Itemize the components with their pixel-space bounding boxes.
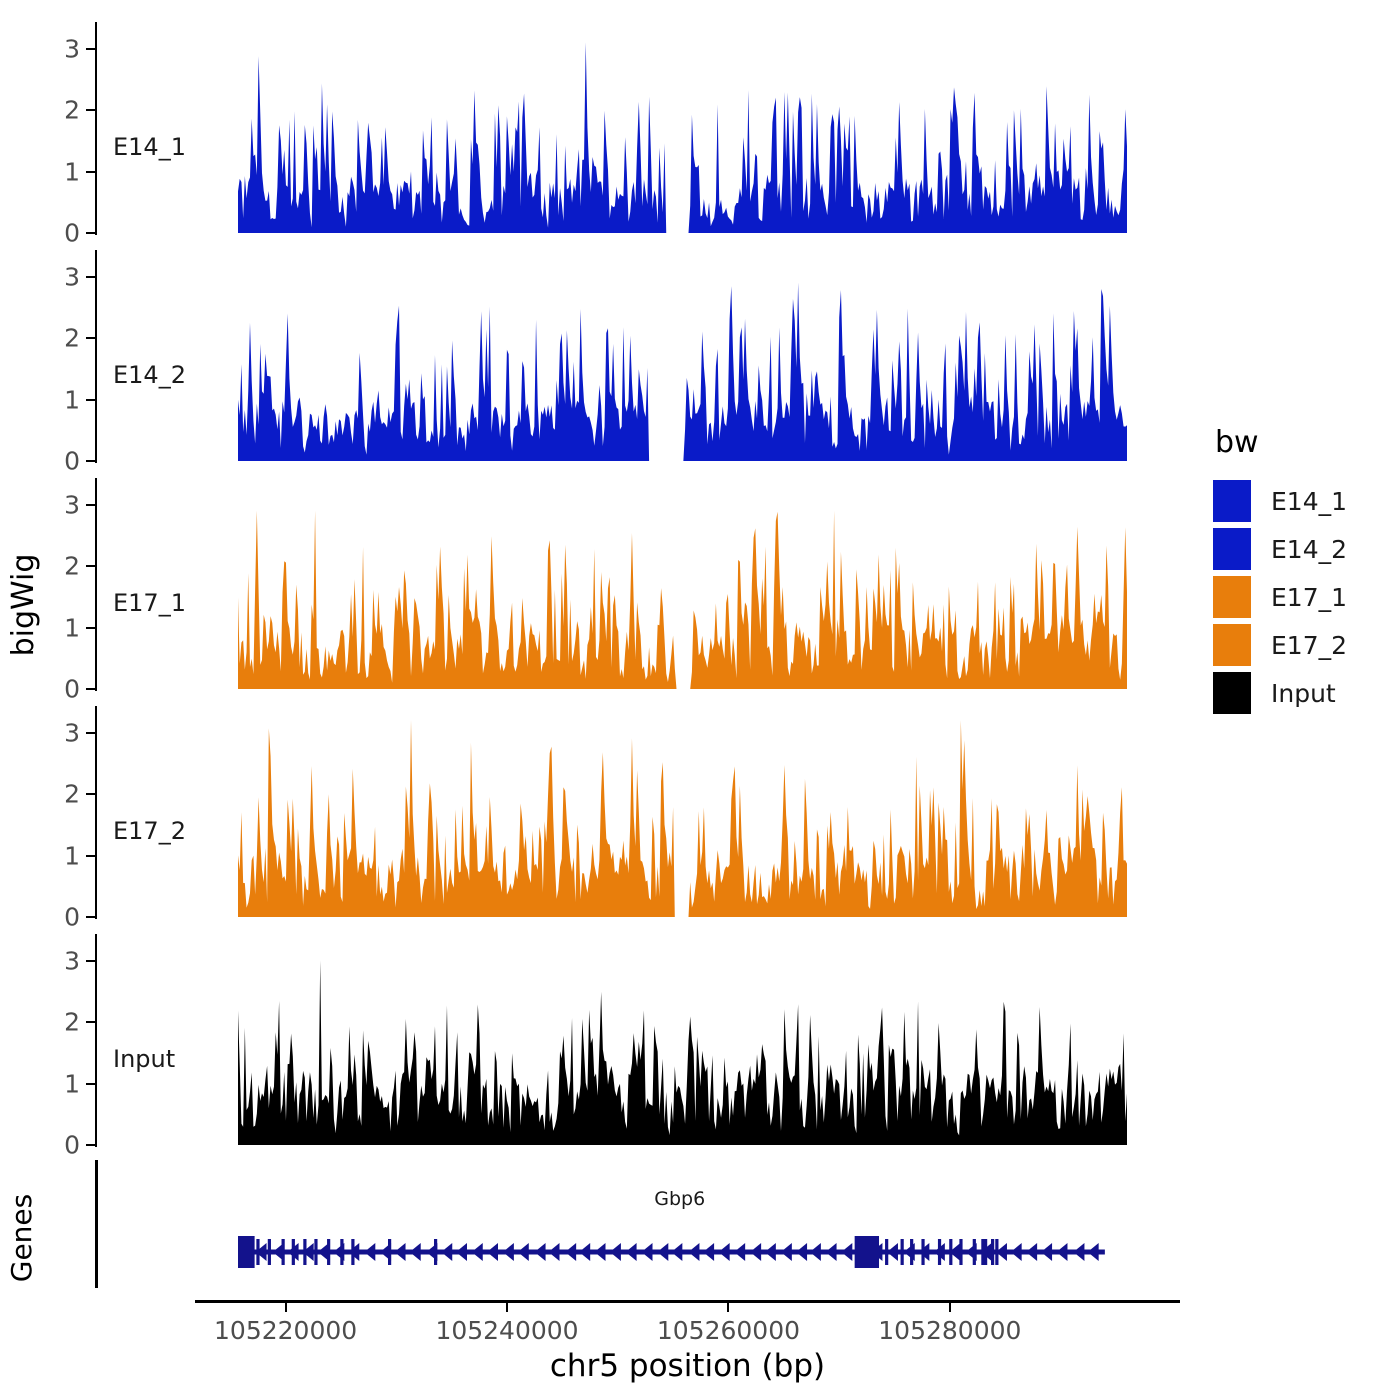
y-tick-label: 0 [64,1131,80,1160]
gene-exon-tick [340,1239,343,1265]
track-signal-e14_1 [95,22,1180,235]
gene-exon-tick [327,1239,330,1265]
legend-swatch-icon [1213,528,1251,570]
x-axis-line [195,1300,1180,1303]
x-tick [506,1303,508,1312]
y-tick-label: 0 [64,447,80,476]
track-signal-e14_2 [95,250,1180,463]
track-signal-input [95,934,1180,1147]
legend: bw E14_1E14_2E17_1E17_2Input [1213,425,1393,717]
y-tick: 0 [86,916,95,918]
gene-strand-arrow [641,1243,652,1261]
y-tick: 2 [86,337,95,339]
y-tick-label: 0 [64,903,80,932]
y-tick-label: 3 [64,946,80,975]
legend-swatch-icon [1213,480,1251,522]
gene-exon-tick [256,1239,259,1265]
y-tick: 3 [86,732,95,734]
legend-label: E17_1 [1271,583,1347,612]
y-tick-label: 1 [64,1069,80,1098]
y-tick: 2 [86,1021,95,1023]
x-tick [727,1303,729,1312]
track-panel-e14_2: 0123E14_2 [95,250,1180,463]
track-panel-e17_1: 0123E17_1 [95,478,1180,691]
gene-exon-tick [303,1239,306,1265]
gene-exon-tick [959,1239,962,1265]
track-signal-e17_1 [95,478,1180,691]
y-tick: 2 [86,565,95,567]
gene-strand-arrow [750,1243,761,1261]
x-tick [949,1303,951,1312]
gene-strand-arrow [734,1243,745,1261]
y-tick-label: 2 [64,552,80,581]
gene-strand-arrow [688,1243,699,1261]
legend-label: Input [1271,679,1336,708]
gene-strand-arrow [796,1243,807,1261]
gene-exon-tick [938,1239,941,1265]
gene-strand-arrow [719,1243,730,1261]
y-tick: 3 [86,48,95,50]
legend-swatch-icon [1213,624,1251,666]
gene-strand-arrow [487,1243,498,1261]
legend-item-e14_2[interactable]: E14_2 [1213,525,1393,573]
y-tick-label: 1 [64,385,80,414]
y-tick-label: 3 [64,718,80,747]
y-tick-label: 1 [64,157,80,186]
gene-strand-arrow [671,1243,682,1261]
gene-exon-tick [901,1239,904,1265]
gene-model[interactable] [95,1160,1180,1288]
y-tick: 1 [86,627,95,629]
x-tick-label: 105280000 [878,1316,1021,1345]
y-tick: 3 [86,504,95,506]
gene-exon-tick [984,1239,987,1265]
gene-strand-arrow [364,1243,375,1261]
y-tick-label: 3 [64,490,80,519]
y-tick: 1 [86,171,95,173]
track-panel-e17_2: 0123E17_2 [95,706,1180,919]
gene-strand-arrow [657,1243,668,1261]
gene-strand-arrow [610,1243,621,1261]
gene-exon-tick [973,1239,976,1265]
gene-strand-arrow [1088,1243,1099,1261]
gene-strand-arrow [1011,1243,1022,1261]
y-tick-label: 3 [64,34,80,63]
gene-strand-arrow [410,1243,421,1261]
gene-exon-tick [434,1239,437,1265]
gene-strand-arrow [703,1243,714,1261]
legend-item-e17_1[interactable]: E17_1 [1213,573,1393,621]
y-tick: 1 [86,855,95,857]
y-tick-label: 1 [64,841,80,870]
gene-strand-arrow [548,1243,559,1261]
y-tick: 1 [86,399,95,401]
gene-exon-block [855,1236,879,1268]
y-tick-label: 0 [64,675,80,704]
gene-exon-tick [268,1239,271,1265]
gene-strand-arrow [626,1243,637,1261]
gene-exon-tick [292,1239,295,1265]
gene-strand-arrow [1026,1243,1037,1261]
gene-strand-arrow [535,1243,546,1261]
gene-strand-arrow [810,1243,821,1261]
legend-title: bw [1215,425,1393,460]
y-tick-label: 3 [64,262,80,291]
y-axis-strip-bigwig: bigWig [4,535,44,675]
y-tick: 0 [86,1144,95,1146]
genes-panel: Gbp6 [95,1160,1180,1288]
gene-exon-tick [995,1239,998,1265]
gene-strand-arrow [456,1243,467,1261]
legend-label: E17_2 [1271,631,1347,660]
gene-exon-tick [981,1239,984,1265]
y-tick: 3 [86,276,95,278]
x-tick-label: 105220000 [214,1316,357,1345]
gene-strand-arrow [887,1243,898,1261]
gene-strand-arrow [518,1243,529,1261]
gene-strand-arrow [1041,1243,1052,1261]
gene-exon-tick [949,1239,952,1265]
gene-strand-arrow [594,1243,605,1261]
y-tick: 2 [86,793,95,795]
track-panel-input: 0123Input [95,934,1180,1147]
legend-item-input[interactable]: Input [1213,669,1393,717]
y-tick: 0 [86,460,95,462]
y-tick: 2 [86,109,95,111]
y-tick: 3 [86,960,95,962]
legend-item-e17_2[interactable]: E17_2 [1213,621,1393,669]
gene-exon-tick [885,1239,888,1265]
legend-label: E14_2 [1271,535,1347,564]
x-tick-label: 105260000 [657,1316,800,1345]
gene-strand-arrow [781,1243,792,1261]
x-tick-label: 105240000 [435,1316,578,1345]
legend-swatch-icon [1213,672,1251,714]
legend-items: E14_1E14_2E17_1E17_2Input [1213,477,1393,717]
y-tick-label: 2 [64,1008,80,1037]
x-tick [285,1303,287,1312]
gene-exon-tick [910,1239,913,1265]
y-tick-label: 2 [64,780,80,809]
y-axis-strip-genes: Genes [4,1183,40,1293]
y-tick-label: 1 [64,613,80,642]
gene-exon-tick [314,1239,317,1265]
plot-root: bigWig Genes 0123E14_10123E14_20123E17_1… [0,0,1400,1400]
gene-strand-arrow [841,1243,852,1261]
legend-item-e14_1[interactable]: E14_1 [1213,477,1393,525]
gene-exon-block [238,1236,255,1268]
gene-exon-tick [351,1239,354,1265]
track-signal-e17_2 [95,706,1180,919]
gene-strand-arrow [826,1243,837,1261]
legend-label: E14_1 [1271,487,1347,516]
gene-strand-arrow [565,1243,576,1261]
gene-strand-arrow [1073,1243,1084,1261]
y-tick: 0 [86,688,95,690]
gene-strand-arrow [579,1243,590,1261]
gene-strand-arrow [395,1243,406,1261]
legend-swatch-icon [1213,576,1251,618]
y-tick-label: 2 [64,96,80,125]
gene-exon-tick [921,1239,924,1265]
gene-strand-arrow [441,1243,452,1261]
y-tick-label: 2 [64,324,80,353]
gene-exon-tick [282,1239,285,1265]
gene-exon-tick [991,1239,994,1265]
x-axis-title: chr5 position (bp) [195,1348,1180,1384]
y-tick-label: 0 [64,219,80,248]
y-tick: 0 [86,232,95,234]
gene-exon-tick [388,1239,391,1265]
gene-strand-arrow [503,1243,514,1261]
track-panel-e14_1: 0123E14_1 [95,22,1180,235]
y-tick: 1 [86,1083,95,1085]
gene-strand-arrow [765,1243,776,1261]
gene-strand-arrow [472,1243,483,1261]
gene-strand-arrow [1056,1243,1067,1261]
